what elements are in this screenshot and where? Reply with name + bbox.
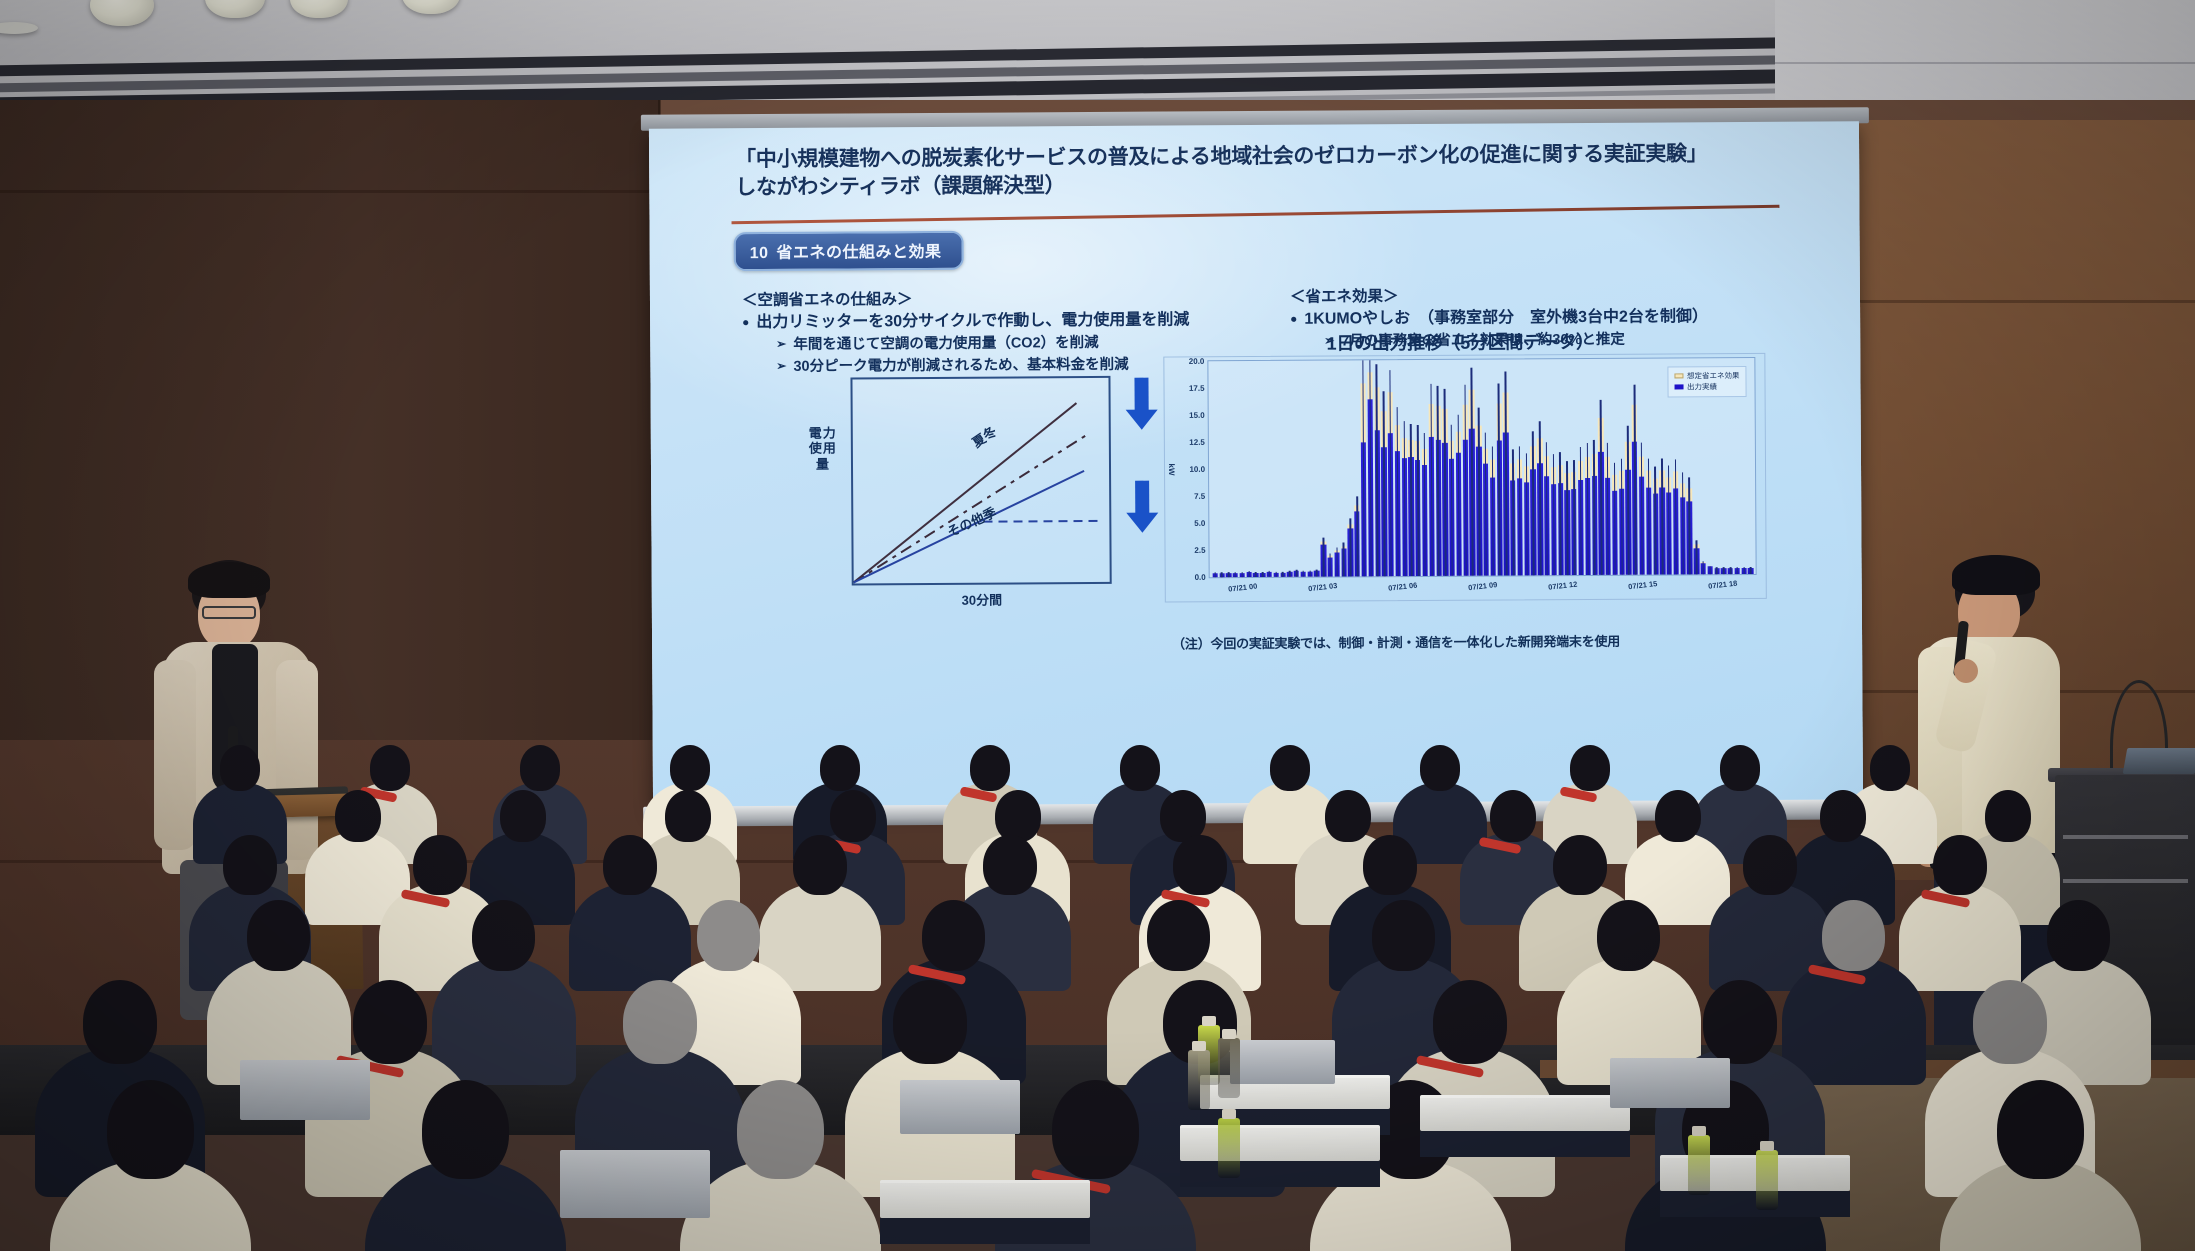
audience-head [1720,745,1761,791]
bar-peak-tick [1323,538,1325,577]
audience-head [247,900,310,971]
title-divider [732,205,1780,224]
audience-head [353,980,427,1064]
audience-head [893,980,967,1064]
audience-head [472,900,535,971]
bar-peak-tick [1241,572,1243,577]
audience-head [335,790,381,842]
bar-peak-tick [1248,571,1250,577]
audience-head [1120,745,1161,791]
bottle-cap [1222,1109,1236,1119]
wall-seam [0,190,660,193]
bar-peak-tick [1214,572,1216,577]
audience-head [793,835,846,895]
slide-note: （注）今回の実証実験では、制御・計測・通信を一体化した新開発端末を使用 [1172,630,1772,653]
bar-peak-tick [1336,547,1338,576]
audience-desk [880,1180,1090,1218]
audience-head [1743,835,1796,895]
audience-laptop [1610,1058,1730,1108]
left-column-heading: ＜空調省エネの仕組み＞ [742,285,1262,310]
water-bottle [1188,1050,1210,1110]
water-bottle [1688,1135,1710,1195]
audience-head [520,745,561,791]
chart-b-title: 1日の出力推移（5分区間データ） [1155,327,1765,357]
audience-head [603,835,656,895]
audience-head [623,980,697,1064]
audience-head [922,900,985,971]
bar-peak-tick [1262,572,1264,577]
bar-peak-tick [1221,572,1223,577]
audience-head [1703,980,1777,1064]
ceiling-light-icon [90,0,154,26]
bar-peak-tick [1316,569,1318,576]
chart-a-ylabel: 電力使用量 [807,426,839,472]
bottle-cap [1222,1029,1236,1039]
audience-head [830,790,876,842]
bar-peak-tick [1343,543,1345,577]
left-bullet-text: 出力リミッターを30分サイクルで作動し、電力使用量を削減 [756,310,1189,333]
audience-head [1870,745,1911,791]
audience-head [1570,745,1611,791]
audience-head [422,1080,509,1179]
desk-shadow [1420,1131,1630,1157]
bar-peak-tick [1709,566,1711,574]
bar-peak-tick [1716,567,1718,574]
bar-peak-tick [1750,567,1752,574]
desk-shadow [880,1218,1090,1244]
audience-desk [1420,1095,1630,1131]
water-bottle [1218,1118,1240,1178]
bar-peak-tick [1702,561,1704,574]
bar-peak-tick [1289,571,1291,577]
audience-head [970,745,1011,791]
audience-head [1597,900,1660,971]
y-tick-label: 20.0 [1189,357,1205,366]
legend-item: 想定省エネ効果 [1674,370,1740,382]
chart-b-legend: 想定省エネ効果 出力実績 [1667,366,1747,397]
right-column-heading: ＜省エネ効果＞ [1290,282,1760,307]
line-other-season-reduced [983,520,1103,523]
audience-head [1052,1080,1139,1179]
wall-seam [1840,300,2195,303]
audience-head [220,745,261,791]
audience-head [983,835,1036,895]
y-tick-label: 5.0 [1194,519,1205,528]
bottle-cap [1202,1016,1216,1026]
audience-head [1820,790,1866,842]
chart-a-plot-area: 夏冬 その他季 [850,376,1111,586]
ceiling-light-icon [290,0,348,18]
desk-shadow [1180,1161,1380,1187]
audience-shoulders [569,883,691,991]
legend-item: 出力実績 [1674,381,1740,393]
bar-peak-tick [1228,572,1230,577]
legend-swatch-saving-icon [1674,374,1683,379]
audience-head [697,900,760,971]
hand [1954,659,1978,683]
left-sub-bullet-text: 年間を通じて空調の電力使用量（CO2）を削減 [793,334,1098,354]
projection-screen: 「中小規模建物への脱炭素化サービスの普及による地域社会のゼロカーボン化の促進に関… [649,121,1863,808]
ceiling-light-icon [402,0,460,14]
audience-head [1325,790,1371,842]
lectern-laptop [2123,748,2195,774]
bar-peak-tick [1282,572,1284,577]
audience-head [1655,790,1701,842]
audience-head [1822,900,1885,971]
chart-b-plot-area: kW 20.017.515.012.510.07.55.02.50.0 07/2… [1207,357,1756,578]
bar-peak-tick [1296,570,1298,577]
y-tick-label: 7.5 [1194,492,1205,501]
bar-peak-tick [1736,567,1738,574]
audience-head [1933,835,1986,895]
y-tick-label: 15.0 [1189,411,1205,420]
audience-shoulders [432,957,577,1085]
bottle-cap [1692,1126,1706,1136]
daily-output-bar-chart: 1日の出力推移（5分区間データ） kW 20.017.515.012.510.0… [1155,327,1767,621]
bullet-dot-icon: ● [742,313,749,333]
bottle-cap [1192,1041,1206,1051]
audience-head [1363,835,1416,895]
desk-shadow [1660,1191,1850,1217]
audience-head [107,1080,194,1179]
audience-laptop [240,1060,370,1120]
bar-peak-tick [1730,567,1732,574]
y-tick-label: 2.5 [1194,546,1205,555]
arrow-bullet-icon: ➢ [776,357,786,376]
bar-peak-tick [1329,554,1331,577]
audience-head [500,790,546,842]
audience-head [665,790,711,842]
line-summer-winter [853,402,1077,583]
bar-peak-tick [1275,572,1277,577]
left-sub-bullet-text: 30分ピーク電力が削減されるため、基本料金を削減 [793,355,1128,376]
legend-label: 出力実績 [1687,381,1717,392]
audience-head [2047,900,2110,971]
audience-head [413,835,466,895]
audience-head [1270,745,1311,791]
bullet-dot-icon: ● [1290,310,1297,330]
bar-peak-tick [1235,572,1237,577]
audience-head [820,745,861,791]
audience-head [1973,980,2047,1064]
audience-head [1490,790,1536,842]
legend-label: 想定省エネ効果 [1687,370,1740,382]
bar-peak-tick [1309,571,1311,577]
ceiling-seam [1775,62,2195,64]
section-badge: 10省エネの仕組みと効果 [734,231,964,271]
slide-title: 「中小規模建物への脱炭素化サービスの普及による地域社会のゼロカーボン化の促進に関… [735,140,1795,202]
hair-top [1952,555,2040,595]
audience-laptop [560,1150,710,1218]
bar-peak-tick [1269,571,1271,577]
audience-head [737,1080,824,1179]
chart-b-ylabel: kW [1167,463,1176,475]
presentation-slide: 「中小規模建物への脱炭素化サービスの普及による地域社会のゼロカーボン化の促進に関… [649,121,1863,808]
conference-hall-photo: 「中小規模建物への脱炭素化サービスの普及による地域社会のゼロカーボン化の促進に関… [0,0,2195,1251]
water-bottle [1218,1038,1240,1098]
audience-head [223,835,276,895]
water-bottle [1756,1150,1778,1210]
audience-head [670,745,711,791]
glasses-icon [202,606,256,619]
audience-desk [1180,1125,1380,1161]
arrow-bullet-icon: ➢ [776,336,786,355]
audience-head [1372,900,1435,971]
section-title: 省エネの仕組みと効果 [776,244,941,262]
section-number: 10 [750,245,769,262]
audience-laptop [1230,1040,1335,1084]
audience-head [1147,900,1210,971]
audience-head [995,790,1041,842]
audience-head [1420,745,1461,791]
legend-swatch-actual-icon [1674,385,1683,390]
bar-group [1746,358,1754,574]
bar-peak-tick [1255,572,1257,577]
lectern-trim [2063,879,2188,883]
ceiling-light-icon [0,22,38,34]
chart-a-xlabel: 30分間 [852,589,1112,610]
audience-laptop [900,1080,1020,1134]
y-tick-label: 10.0 [1189,465,1205,474]
right-bullet-text: 1KUMOやしお （事務室部分 室外機3台中2台を制御） [1304,307,1708,329]
y-tick-label: 12.5 [1189,438,1205,447]
bar-peak-tick [1723,567,1725,574]
line-summer-winter-reduced [853,435,1086,583]
hair-top [188,562,270,598]
bar-peak-tick [1696,540,1698,574]
audience-head [1553,835,1606,895]
audience-head [1433,980,1507,1064]
y-tick-label: 0.0 [1195,573,1206,582]
audience-head [1985,790,2031,842]
audience-head [1997,1080,2084,1179]
audience-head [370,745,411,791]
arm-left [154,660,196,850]
audience-head [83,980,157,1064]
audience-head [1173,835,1226,895]
lectern-trim [2063,835,2188,839]
power-usage-schematic-chart: 電力使用量 夏冬 その他季 30分間 [810,376,1111,608]
ceiling-light-icon [205,0,265,18]
chart-a-series-label: 夏冬 [968,421,1000,451]
bottle-cap [1760,1141,1774,1151]
y-tick-label: 17.5 [1189,384,1205,393]
bar-peak-tick [1743,567,1745,574]
bar-peak-tick [1302,571,1304,577]
slide-title-line2: しながわシティラボ（課題解決型） [735,167,1795,201]
